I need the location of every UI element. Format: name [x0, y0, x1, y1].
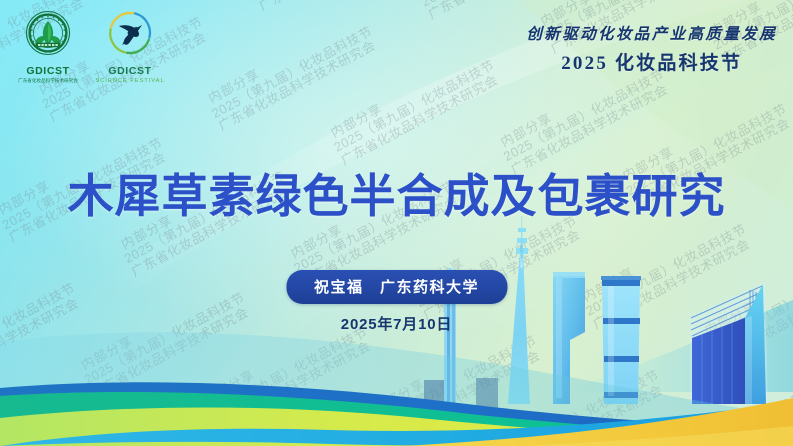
building-canton-tower	[508, 216, 530, 404]
watermark-text: 内部分享2025（第九届）化妆品科技节广东省化妆品科学技术研究会	[490, 355, 669, 446]
building-banded-tower	[601, 276, 641, 404]
logo-gdicst-science-festival: GDICST SCIENCE FESTIVAL	[94, 9, 166, 84]
watermark-text: 内部分享2025（第九届）化妆品科技节广东省化妆品科学技术研究会	[0, 423, 167, 446]
watermark-text: 内部分享2025（第九届）化妆品科技节广东省化妆品科学技术研究会	[699, 244, 793, 367]
logo-festival-name: GDICST	[94, 65, 166, 77]
event-tagline: 创新驱动化妆品产业高质量发展	[526, 22, 777, 44]
logo-group: GDICST 广东省化妆品科学技术研究会 GDICST S	[12, 9, 166, 84]
green-leaf-seal-logo	[12, 9, 84, 59]
author-affiliation-badge: 祝宝福 广东药科大学	[286, 270, 507, 304]
watermark-text: 内部分享2025（第九届）化妆品科技节广东省化妆品科学技术研究会	[243, 0, 422, 14]
logo-festival-subtitle: SCIENCE FESTIVAL	[95, 78, 166, 84]
event-name: 2025 化妆品科技节	[526, 48, 777, 75]
watermark-text: 内部分享2025（第九届）化妆品科技节广东省化妆品科学技术研究会	[412, 0, 591, 23]
watermark-text: 内部分享2025（第九届）化妆品科技节广东省化妆品科学技术研究会	[659, 364, 793, 446]
watermark-text: 内部分享2025（第九届）化妆品科技节广东省化妆品科学技术研究会	[158, 432, 337, 446]
logo-gdicst-association: GDICST 广东省化妆品科学技术研究会	[12, 9, 84, 84]
tri-swirl-circle-logo	[94, 9, 166, 59]
presentation-date: 2025年7月10日	[0, 313, 793, 334]
building-flag-top-tower	[553, 272, 585, 404]
watermark-text: 内部分享2025（第九届）化妆品科技节广东省化妆品科学技术研究会	[75, 278, 254, 401]
logo-association-subtitle: 广东省化妆品科学技术研究会	[13, 78, 84, 84]
logo-association-name: GDICST	[12, 65, 84, 77]
watermark-text: 内部分享2025（第九届）化妆品科技节广东省化妆品科学技术研究会	[203, 11, 382, 134]
watermark-text: 内部分享2025（第九届）化妆品科技节广东省化妆品科学技术研究会	[367, 321, 546, 444]
watermark-text: 内部分享2025（第九届）化妆品科技节广东省化妆品科学技术研究会	[325, 46, 504, 169]
watermark-text: 内部分享2025（第九届）化妆品科技节广东省化妆品科学技术研究会	[0, 389, 45, 446]
presentation-slide: 内部分享2025（第九届）化妆品科技节广东省化妆品科学技术研究会内部分享2025…	[0, 0, 793, 446]
event-header: 创新驱动化妆品产业高质量发展 2025 化妆品科技节	[526, 22, 777, 75]
building-angled-glass-skyscraper	[690, 282, 768, 404]
page-title: 木犀草素绿色半合成及包裹研究	[0, 160, 793, 226]
